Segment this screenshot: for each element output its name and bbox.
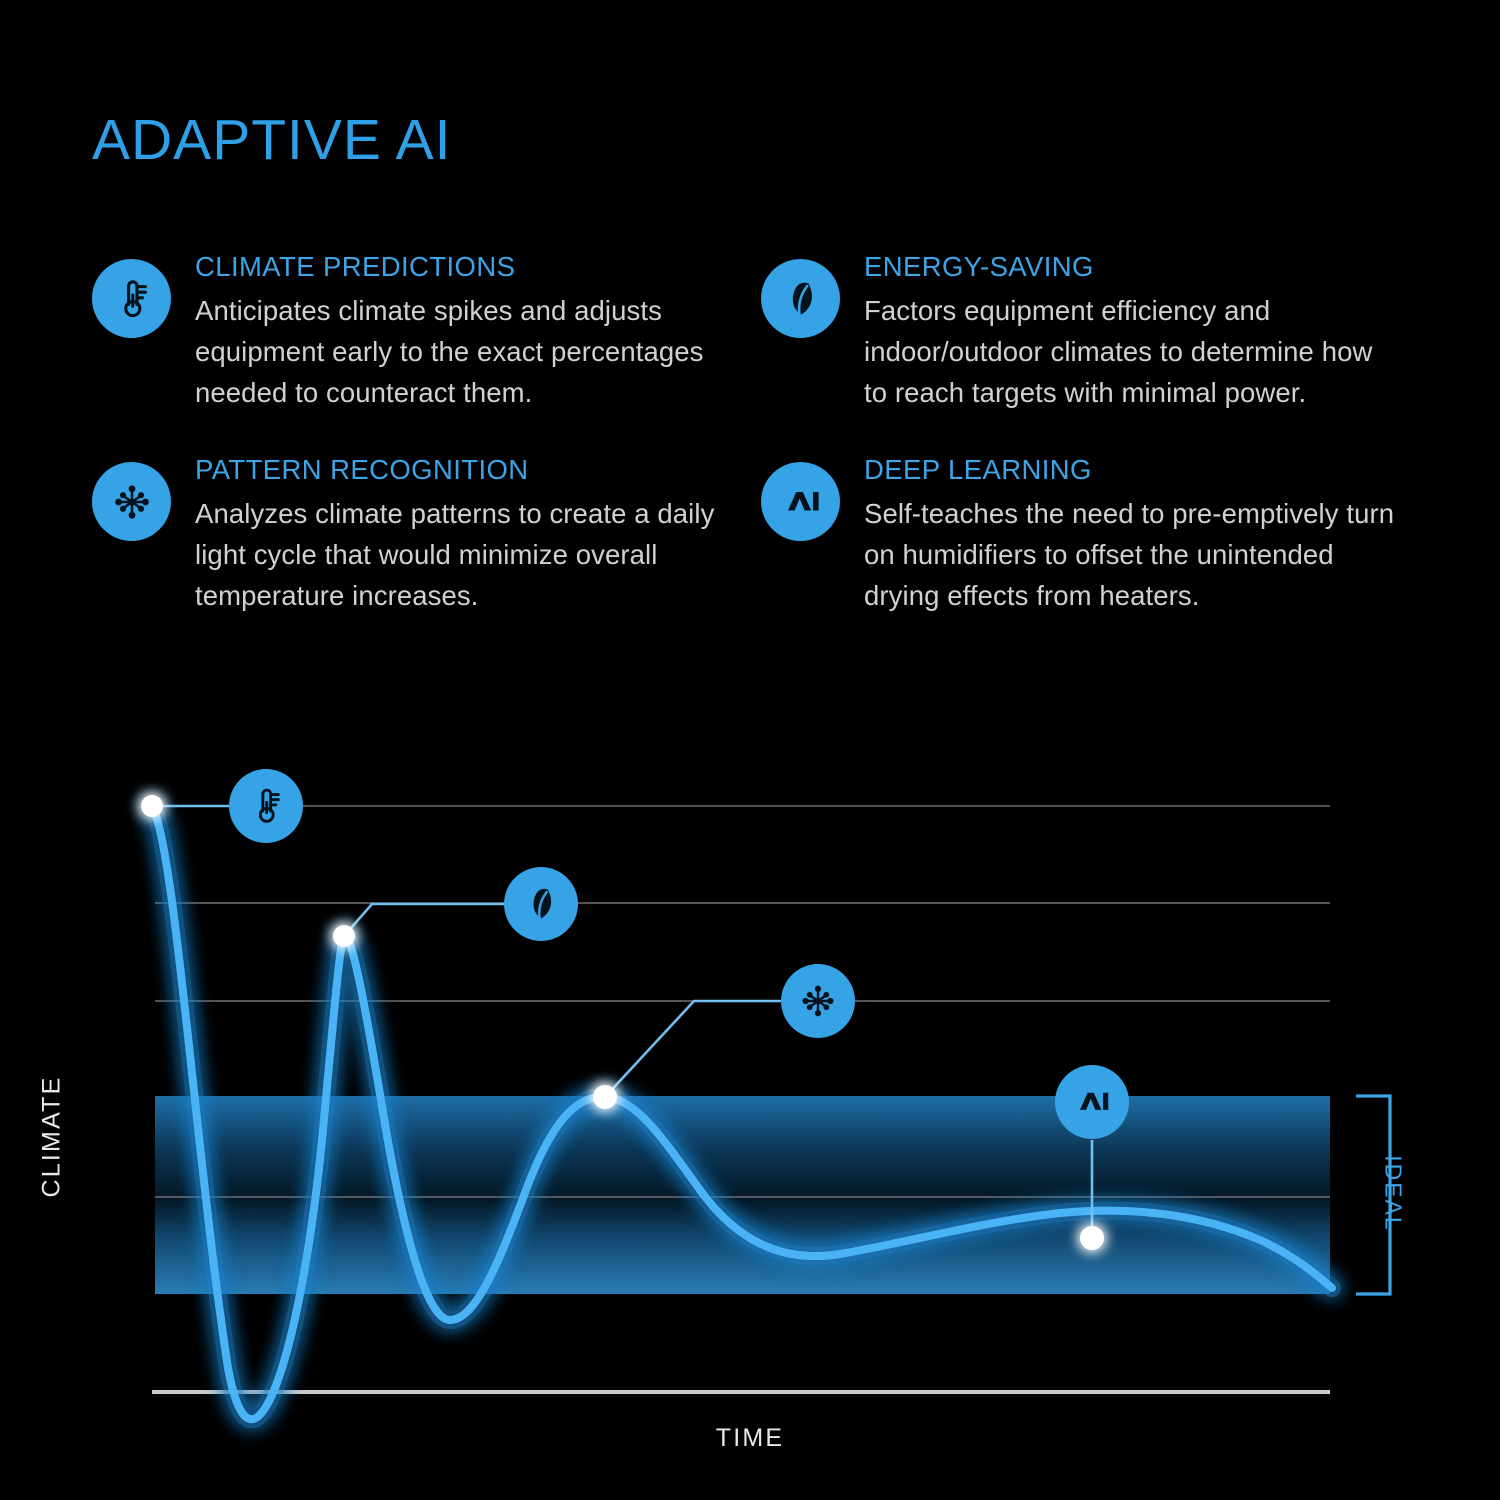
marker-pattern-recognition[interactable] xyxy=(593,1085,617,1109)
marker-climate-predictions[interactable] xyxy=(141,795,163,817)
chart-badge-leaf-icon[interactable] xyxy=(504,867,578,941)
x-axis-label: TIME xyxy=(0,1424,1500,1453)
chart-badge-ai-logo-icon[interactable] xyxy=(1055,1065,1129,1139)
marker-deep-learning[interactable] xyxy=(1080,1226,1104,1250)
chart-badge-thermometer-icon[interactable] xyxy=(229,769,303,843)
ideal-band-label: IDEAL xyxy=(1380,1114,1407,1274)
y-axis-label: CLIMATE xyxy=(38,1052,67,1222)
infographic-page: ADAPTIVE AI xyxy=(0,0,1500,1500)
chart-badge-network-nodes-icon[interactable] xyxy=(781,964,855,1038)
chart-canvas xyxy=(0,0,1500,1500)
marker-energy-saving[interactable] xyxy=(333,925,355,947)
